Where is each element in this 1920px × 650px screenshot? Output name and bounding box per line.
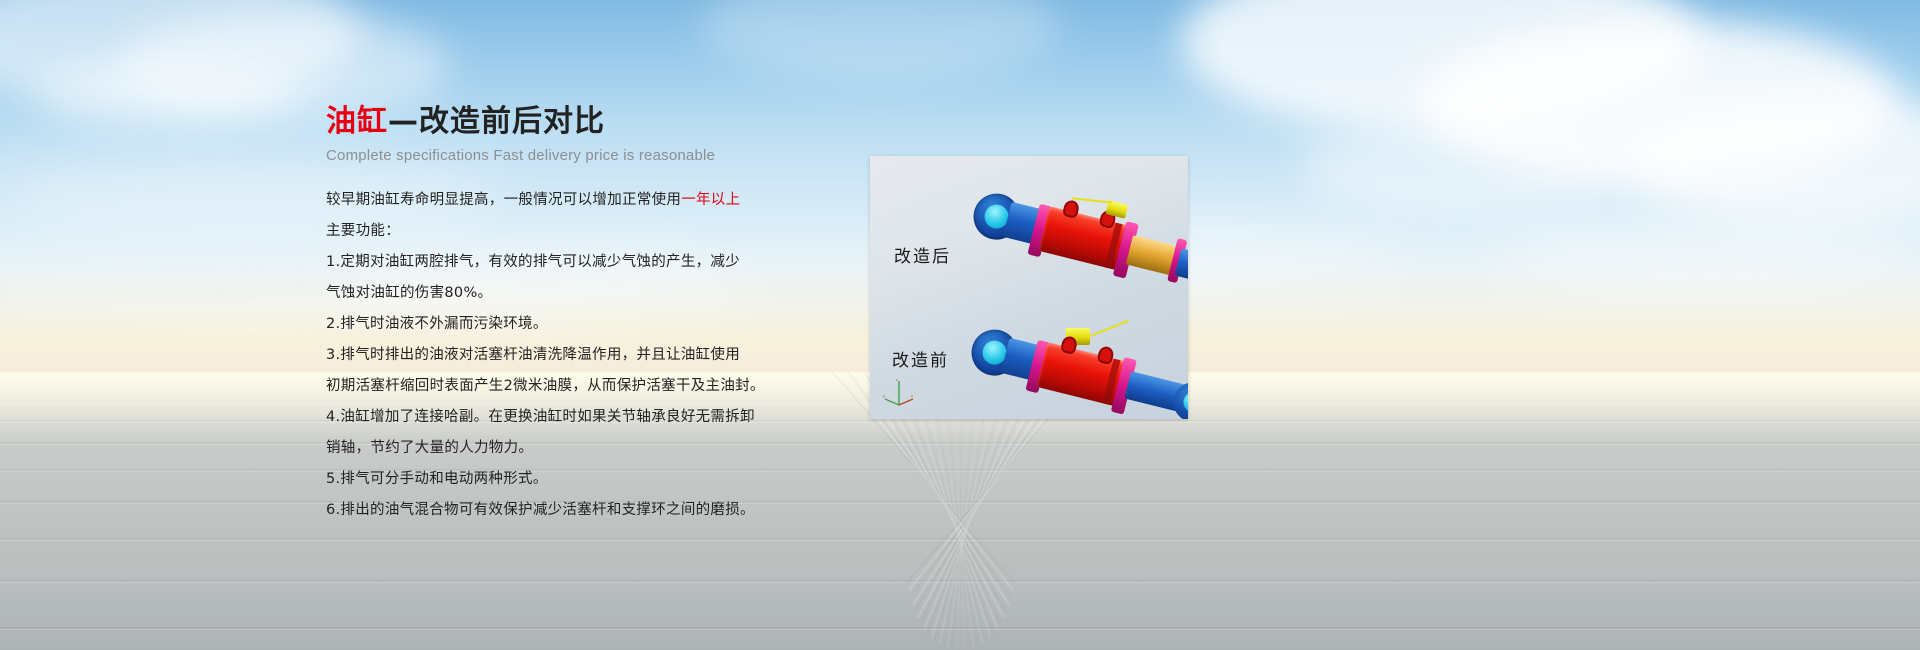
svg-text:z: z [896,377,898,382]
feature-text: 较早期油缸寿命明显提高，一般情况可以增加正常使用一年以上 主要功能： 1.定期对… [326,188,756,523]
page-title-rest: —改造前后对比 [388,104,605,139]
feature-line: 气蚀对油缸的伤害80%。 [326,281,756,306]
feature-intro-line: 较早期油缸寿命明显提高，一般情况可以增加正常使用一年以上 [326,188,756,213]
cloud-shape [1500,215,1920,295]
valve-hose [1088,320,1130,338]
cloud-shape [40,60,300,130]
label-after-modification: 改造后 [894,242,951,267]
feature-line: 2.排气时油液不外漏而污染环境。 [326,312,756,337]
coordinate-axis-icon: z x y [882,377,916,407]
page-title: 油缸—改造前后对比 [326,104,756,139]
label-before-modification: 改造前 [892,346,949,371]
feature-line-list: 1.定期对油缸两腔排气，有效的排气可以减少气蚀的产生，减少气蚀对油缸的伤害80%… [326,250,756,523]
cloud-streak [0,271,330,290]
cloud-shape [700,0,1060,80]
valve-tube [1072,197,1112,203]
feature-subhead: 主要功能： [326,219,756,244]
feature-line: 4.油缸增加了连接哈副。在更换油缸时如果关节轴承良好无需拆卸 [326,405,756,430]
feature-line: 3.排气时排出的油液对活塞杆油清洗降温作用，并且让油缸使用 [326,343,756,368]
svg-text:x: x [911,393,913,398]
banner-stage: 油缸—改造前后对比 Complete specifications Fast d… [0,0,1920,650]
feature-line: 销轴，节约了大量的人力物力。 [326,436,756,461]
feature-line: 初期活塞杆缩回时表面产生2微米油膜，从而保护活塞干及主油封。 [326,374,756,399]
feature-line: 5.排气可分手动和电动两种形式。 [326,467,756,492]
comparison-image-panel: 改造后 改造前 [870,156,1188,419]
feature-line: 1.定期对油缸两腔排气，有效的排气可以减少气蚀的产生，减少 [326,250,756,275]
feature-intro-text: 较早期油缸寿命明显提高，一般情况可以增加正常使用 [326,192,681,208]
page-title-highlight: 油缸 [326,104,388,139]
page-subtitle: Complete specifications Fast delivery pr… [326,147,756,164]
svg-text:y: y [883,393,885,398]
feature-line: 6.排出的油气混合物可有效保护减少活塞杆和支撑环之间的磨损。 [326,498,756,523]
cloud-shape [1300,120,1620,215]
feature-intro-highlight: 一年以上 [681,192,740,208]
cylinder-after-assembly [967,183,1188,297]
banner-text-block: 油缸—改造前后对比 Complete specifications Fast d… [326,104,756,529]
